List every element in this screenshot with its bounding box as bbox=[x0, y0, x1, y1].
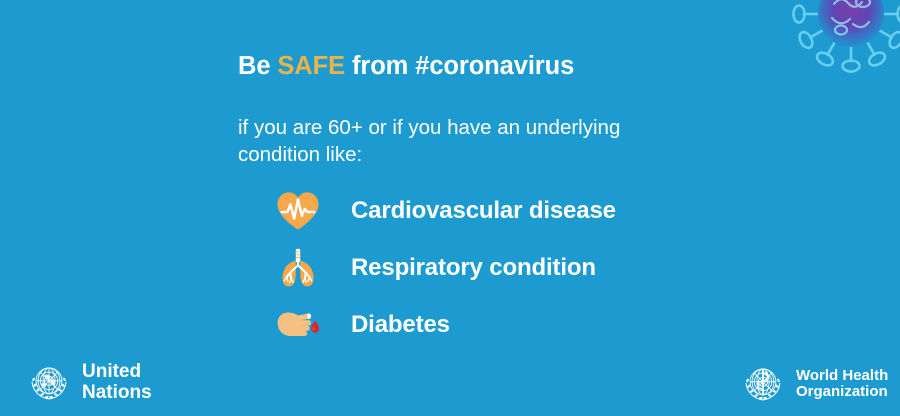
page-title: Be SAFE from #coronavirus bbox=[238, 52, 574, 81]
world-health-organization-logo: World Health Organization bbox=[740, 361, 888, 407]
subtitle-line-1: if you are 60+ or if you have an underly… bbox=[238, 114, 738, 141]
list-item-label: Cardiovascular disease bbox=[351, 197, 616, 225]
headline-after: from #coronavirus bbox=[345, 52, 574, 80]
united-nations-wordmark: United Nations bbox=[82, 362, 152, 403]
conditions-list: Cardiovascular disease bbox=[272, 182, 752, 353]
heart-pulse-icon bbox=[272, 187, 324, 235]
headline-before: Be bbox=[238, 52, 277, 80]
coronavirus-particle-graphic bbox=[776, 0, 900, 104]
list-item-label: Respiratory condition bbox=[351, 254, 596, 282]
list-item-diabetes: Diabetes bbox=[272, 296, 752, 353]
united-nations-emblem bbox=[26, 360, 72, 406]
list-item-respiratory: Respiratory condition bbox=[272, 239, 752, 296]
subtitle: if you are 60+ or if you have an underly… bbox=[238, 114, 738, 169]
list-item-label: Diabetes bbox=[351, 311, 450, 339]
who-wordmark-line-2: Organization bbox=[796, 384, 888, 400]
headline-highlight-safe: SAFE bbox=[277, 52, 345, 80]
finger-blood-drop-icon bbox=[272, 301, 324, 349]
who-wordmark: World Health Organization bbox=[796, 368, 888, 400]
list-item-cardiovascular: Cardiovascular disease bbox=[272, 182, 752, 239]
united-nations-logo: United Nations bbox=[26, 360, 152, 406]
un-wordmark-line-2: Nations bbox=[82, 383, 152, 404]
who-wordmark-line-1: World Health bbox=[796, 368, 888, 384]
lungs-icon bbox=[272, 244, 324, 292]
subtitle-line-2: condition like: bbox=[238, 141, 738, 168]
world-health-organization-emblem bbox=[740, 361, 786, 407]
poster-canvas: Be SAFE from #coronavirus if you are 60+… bbox=[0, 0, 900, 416]
un-wordmark-line-1: United bbox=[82, 362, 152, 383]
